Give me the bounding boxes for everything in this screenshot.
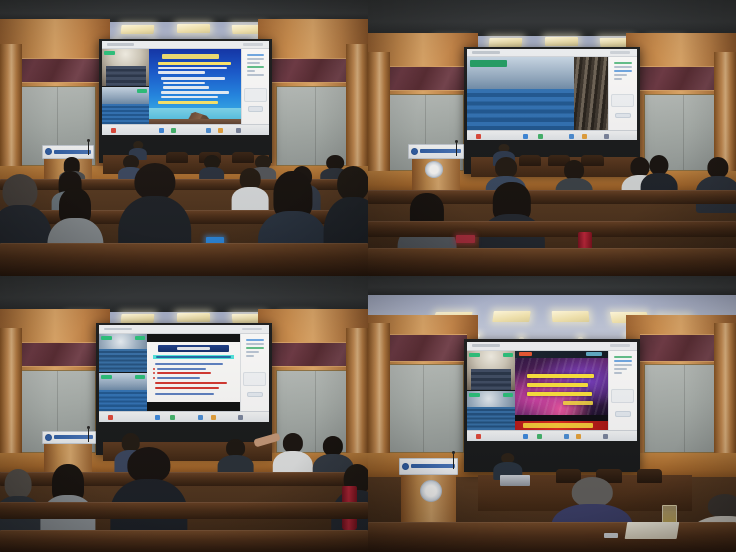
phone-on-desk — [604, 533, 619, 539]
slide-text-line — [161, 96, 218, 99]
main-video-view — [515, 351, 608, 430]
slide-text-line — [155, 363, 224, 365]
sidebar-row — [247, 70, 255, 72]
sidebar-row — [614, 360, 632, 362]
app-titlebar — [467, 342, 636, 351]
sidebar-row — [614, 74, 627, 76]
toolbar-icon-camera[interactable] — [523, 134, 528, 139]
slide-letterbox-bottom — [147, 402, 240, 411]
slide-text-line — [163, 82, 205, 85]
slide-text-line — [161, 91, 229, 94]
slide-text-line — [163, 86, 209, 89]
thumbnail-classroom-a[interactable] — [102, 49, 149, 86]
toolbar-icon-share[interactable] — [537, 434, 542, 439]
foreground-desk-near — [0, 530, 368, 552]
projection-screen[interactable] — [102, 41, 269, 135]
sidebar-row — [247, 74, 264, 76]
sidebar-row — [247, 54, 264, 56]
ceiling-panel-light — [177, 24, 210, 33]
podium-crest-emblem — [420, 480, 442, 502]
stage-chair — [166, 152, 188, 163]
podium-microphone-icon — [88, 141, 89, 155]
thumbnail-badge — [137, 89, 147, 93]
slide-text-line — [155, 382, 227, 384]
toolbar-icon-share[interactable] — [170, 415, 175, 420]
video-top-bar — [515, 351, 608, 358]
thumbnail-badge — [101, 375, 112, 379]
toolbar-icon-more[interactable] — [236, 128, 241, 133]
sidebar-row — [614, 70, 632, 72]
podium-microphone-icon — [453, 453, 454, 470]
phone-screen-glow — [456, 235, 474, 243]
slide-text-line — [158, 62, 231, 65]
toolbar-icon-share[interactable] — [538, 134, 543, 139]
marble-band-left — [379, 66, 467, 91]
video-red-banner — [515, 421, 608, 430]
sidebar-row — [246, 343, 264, 345]
video-caption-line — [527, 392, 592, 396]
thumbnail-strip — [102, 49, 149, 124]
person-head — [495, 157, 517, 178]
person-head — [5, 469, 32, 499]
toolbar-icon-chat[interactable] — [564, 434, 569, 439]
audience-member — [696, 157, 736, 212]
ceiling-panel-light — [552, 311, 590, 322]
university-logo-icon — [45, 148, 52, 155]
participants-chat-sidebar[interactable] — [608, 351, 637, 430]
sidebar-row — [246, 351, 259, 353]
slide-bullet-marker — [153, 377, 155, 379]
foreground-desk-near — [368, 248, 736, 276]
toolbar-icon-participants[interactable] — [576, 434, 581, 439]
stage-chair — [637, 469, 663, 483]
ceiling-panel-light — [492, 311, 530, 322]
toolbar-icon-more[interactable] — [604, 134, 609, 139]
sidebar-row — [247, 58, 264, 60]
toolbar-icon-camera[interactable] — [523, 434, 528, 439]
video-stage — [99, 334, 240, 411]
sidebar-send-button[interactable] — [248, 106, 263, 111]
slide-promo-video — [515, 351, 608, 430]
thumbnail-strip — [99, 334, 147, 411]
podium-microphone-icon — [456, 142, 457, 156]
video-stage — [467, 351, 608, 430]
video-caption-line — [527, 383, 588, 387]
ceiling-dark-band — [0, 276, 368, 312]
projection-screen[interactable] — [467, 342, 636, 441]
toolbar-icon-more[interactable] — [238, 415, 243, 420]
sidebar-row — [247, 62, 260, 64]
sidebar-row — [246, 339, 264, 341]
thumbnail-classroom-c[interactable] — [99, 334, 147, 372]
thumbnail-classroom-c[interactable] — [467, 391, 515, 430]
university-name-text — [54, 435, 92, 439]
slide-text-line — [155, 393, 214, 395]
ceiling-panel-light — [121, 25, 155, 34]
slide-text-line — [158, 67, 228, 70]
person-head — [708, 494, 736, 518]
sidebar-input-box[interactable] — [243, 372, 266, 386]
slide-highlight-band — [153, 355, 235, 360]
sidebar-row — [246, 355, 254, 357]
slide-blue-gradient — [149, 49, 241, 124]
sidebar-row — [614, 66, 632, 68]
person-head — [564, 160, 584, 179]
feed-curtain — [574, 57, 608, 130]
pillar-left — [368, 52, 390, 190]
app-titlebar — [102, 41, 269, 49]
thumbnail-badge — [104, 51, 114, 55]
main-video-view — [467, 57, 608, 130]
slide-text-line — [157, 377, 200, 379]
toolbar-icon-participants[interactable] — [211, 415, 216, 420]
slide-text-line — [158, 71, 206, 74]
sidebar-send-button[interactable] — [615, 411, 631, 417]
toolbar-icon-mic[interactable] — [108, 415, 113, 420]
app-body — [99, 334, 268, 411]
marble-band-left — [11, 342, 99, 367]
thumbnail-badge — [469, 393, 480, 397]
toolbar-icon-camera[interactable] — [159, 128, 164, 133]
sidebar-input-box[interactable] — [244, 88, 267, 102]
ceiling-dark-band — [368, 276, 736, 295]
toolbar-icon-participants[interactable] — [582, 134, 587, 139]
university-logo-icon — [402, 463, 409, 470]
foreground-desk — [0, 243, 368, 276]
thumbnail-badge — [469, 353, 480, 357]
toolbar-icon-share[interactable] — [171, 128, 176, 133]
toolbar-icon-more[interactable] — [603, 434, 608, 439]
sidebar-input-box[interactable] — [611, 94, 634, 107]
app-body — [467, 57, 636, 130]
slide-letterbox-top — [147, 334, 240, 342]
sidebar-row — [246, 347, 264, 349]
university-logo-icon — [411, 148, 418, 155]
thumbnail-badge — [135, 336, 146, 340]
sidebar-row — [614, 356, 632, 358]
slide-text-line — [158, 101, 218, 104]
presenter-laptop — [500, 475, 529, 486]
app-toolbar[interactable] — [102, 124, 269, 134]
person-head — [649, 155, 668, 176]
panel-top-left — [0, 0, 368, 276]
app-toolbar[interactable] — [467, 430, 636, 441]
thumbnail-classroom-b[interactable] — [102, 87, 149, 124]
main-slide-view — [147, 334, 240, 411]
marble-band-left — [11, 58, 99, 83]
app-toolbar[interactable] — [467, 130, 636, 140]
thumbnail-classroom-a[interactable] — [467, 351, 515, 390]
person-head — [323, 436, 343, 456]
university-logo-icon — [45, 434, 52, 441]
sidebar-row — [614, 364, 632, 366]
ceiling-panel-light — [545, 37, 578, 46]
university-name-text — [420, 149, 460, 153]
ceiling-panel-light — [177, 313, 210, 322]
podium-microphone-icon — [88, 428, 89, 442]
panel-bottom-right — [368, 276, 736, 552]
thumbnail-badge — [101, 336, 112, 340]
toolbar-icon-chat[interactable] — [206, 128, 211, 133]
video-caption-line — [527, 374, 594, 378]
foreground-desk — [368, 522, 736, 552]
foreground-desk — [368, 221, 736, 238]
toolbar-icon-mic[interactable] — [476, 434, 481, 439]
toolbar-icon-chat[interactable] — [569, 134, 574, 139]
slide-text-line — [155, 387, 220, 389]
sidebar-row — [614, 62, 632, 64]
participants-chat-sidebar[interactable] — [240, 334, 269, 411]
projection-screen[interactable] — [467, 49, 636, 140]
toolbar-icon-camera[interactable] — [155, 415, 160, 420]
video-stage — [102, 49, 241, 124]
person-head — [572, 477, 612, 507]
sidebar-row — [614, 368, 627, 370]
video-stage — [467, 57, 608, 130]
projection-screen[interactable] — [99, 325, 268, 422]
app-titlebar — [99, 325, 268, 334]
thumbnail-badge — [135, 375, 146, 379]
sidebar-send-button[interactable] — [615, 113, 631, 118]
audience-member — [199, 155, 225, 183]
person-head — [134, 163, 175, 200]
photo-collage-2x2 — [0, 0, 736, 552]
pillar-left — [0, 328, 22, 472]
slide-text-line — [161, 77, 225, 80]
slide-text-line — [157, 368, 205, 370]
toolbar-icon-mic[interactable] — [476, 134, 481, 139]
slide-chapter-title — [147, 334, 240, 411]
slide-bullet-marker — [153, 368, 155, 370]
slide-bullet-marker — [153, 372, 155, 374]
person-head — [127, 447, 170, 483]
thumbnail-strip — [467, 351, 515, 430]
slide-title-bar — [162, 54, 219, 59]
foreground-desk — [0, 502, 368, 519]
panel-top-right — [368, 0, 736, 276]
feed-label-badge — [470, 60, 507, 67]
university-name-text — [54, 150, 91, 154]
slide-chapter-header-bar — [158, 345, 228, 352]
person-head — [3, 174, 38, 209]
sidebar-row — [614, 372, 622, 374]
podium-name-plate — [399, 458, 458, 475]
sidebar-send-button[interactable] — [247, 392, 263, 397]
notebook — [624, 522, 678, 539]
sidebar-row — [247, 66, 264, 68]
slide-mountain-graphic — [149, 108, 241, 125]
sidebar-row — [614, 78, 622, 80]
ceiling-panel-light — [489, 38, 523, 47]
sidebar-input-box[interactable] — [611, 389, 634, 403]
main-slide-view — [149, 49, 241, 124]
thumbnail-badge — [503, 353, 514, 357]
video-caption-line — [563, 401, 593, 404]
panel-bottom-left — [0, 276, 368, 552]
app-body — [102, 49, 269, 124]
toolbar-icon-mic[interactable] — [111, 128, 116, 133]
acoustic-panel-right — [644, 364, 725, 452]
slide-text-line — [157, 372, 211, 374]
acoustic-panel-left — [383, 364, 464, 452]
toolbar-icon-participants[interactable] — [218, 128, 223, 133]
person-head — [282, 433, 302, 453]
thumbnail-classroom-b[interactable] — [99, 373, 147, 411]
toolbar-icon-chat[interactable] — [198, 415, 203, 420]
ceiling-dark-band — [368, 0, 736, 36]
participants-chat-sidebar[interactable] — [241, 49, 269, 124]
participants-chat-sidebar[interactable] — [608, 57, 637, 130]
ceiling-panel-light — [121, 314, 155, 323]
person-head — [226, 439, 246, 457]
app-body — [467, 351, 636, 430]
app-toolbar[interactable] — [99, 411, 268, 422]
thumbnail-badge — [503, 393, 514, 397]
university-name-text — [411, 464, 455, 468]
app-titlebar — [467, 49, 636, 57]
